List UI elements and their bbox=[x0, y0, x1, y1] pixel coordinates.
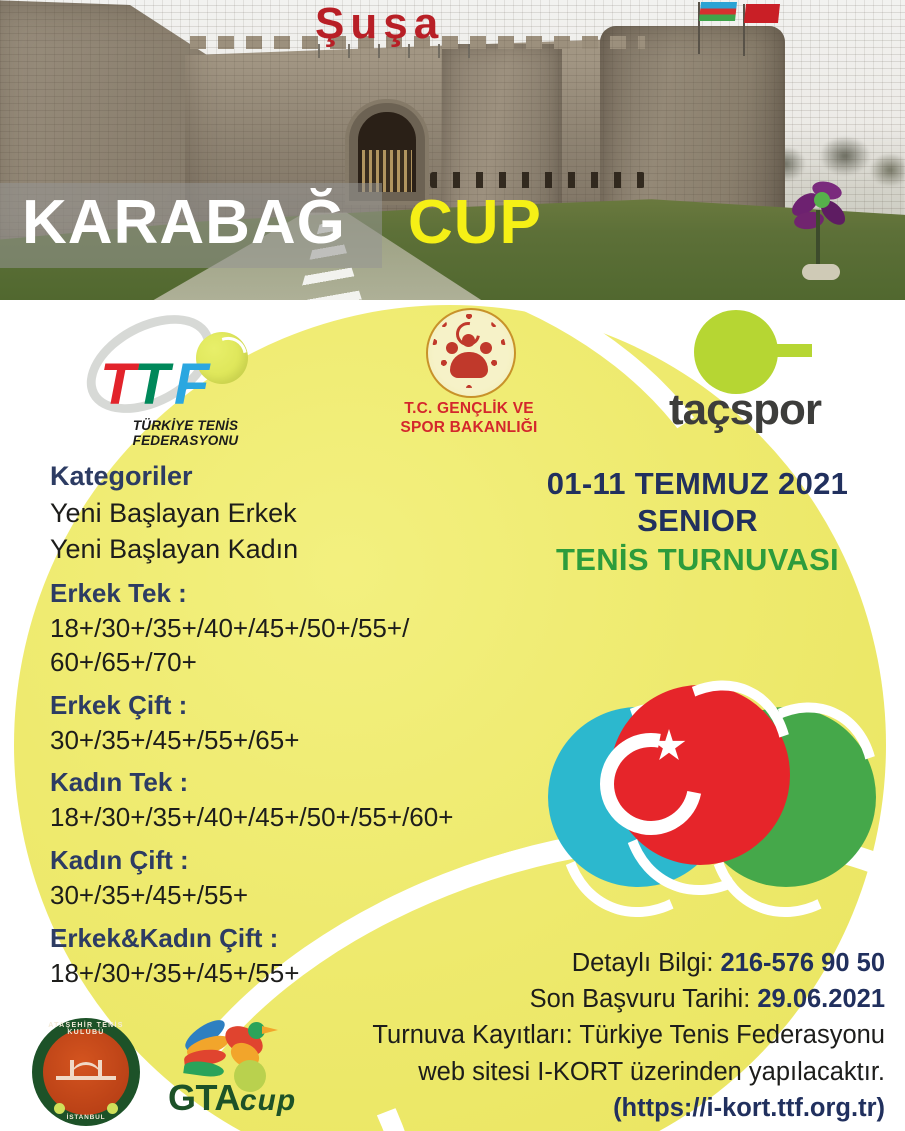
flower-sculpture bbox=[786, 176, 858, 286]
gtacup-word-suffix: cup bbox=[240, 1084, 296, 1117]
category-label-mens-doubles: Erkek Çift : bbox=[50, 687, 540, 724]
poster-body: T T F TÜRKİYE TENİS FEDERASYONU T.C. GEN… bbox=[0, 300, 905, 1131]
tournament-poster: Şuşa KARABAĞ CUP T T F TÜRKİYE TENİS FED… bbox=[0, 0, 905, 1131]
deadline-label: Son Başvuru Tarihi: bbox=[530, 985, 751, 1013]
ttf-letter-1: T bbox=[100, 356, 135, 414]
registration-line-2: web sitesi I-KORT üzerinden yapılacaktır… bbox=[330, 1054, 885, 1090]
ttf-letter-2: T bbox=[134, 356, 169, 414]
poster-title-accent: CUP bbox=[408, 192, 542, 254]
tacspor-circle-icon bbox=[694, 310, 778, 394]
ministry-figure-body bbox=[450, 352, 488, 378]
category-label-mens-singles: Erkek Tek : bbox=[50, 575, 540, 612]
club-badge-text-top: ATAŞEHİR TENİS KULÜBÜ bbox=[32, 1022, 140, 1036]
susa-sign-text: Şuşa bbox=[315, 2, 444, 46]
contact-info-label: Detaylı Bilgi: bbox=[572, 949, 714, 977]
gtacup-logo: GTAcup bbox=[168, 1018, 336, 1128]
atasehir-tennis-club-logo: ATAŞEHİR TENİS KULÜBÜ İSTANBUL bbox=[32, 1018, 140, 1126]
ministry-label-line2: SPOR BAKANLIĞI bbox=[374, 419, 564, 438]
contact-info-line: Detaylı Bilgi: 216-576 90 50 bbox=[330, 945, 885, 981]
event-title-block: 01-11 TEMMUZ 2021 SENIOR TENİS TURNUVASI bbox=[500, 465, 895, 580]
registration-line-1: Turnuva Kayıtları: Türkiye Tenis Federas… bbox=[330, 1017, 885, 1053]
categories-block: Kategoriler Yeni Başlayan Erkek Yeni Baş… bbox=[50, 458, 540, 990]
ministry-label-line1: T.C. GENÇLİK VE bbox=[374, 400, 564, 419]
club-badge-text-bottom: İSTANBUL bbox=[32, 1114, 140, 1121]
gtacup-word-main: GTA bbox=[168, 1077, 240, 1118]
event-dates: 01-11 TEMMUZ 2021 bbox=[500, 465, 895, 502]
club-badge-ball-left bbox=[54, 1103, 65, 1114]
event-level: SENIOR bbox=[500, 502, 895, 541]
ministry-logo: T.C. GENÇLİK VE SPOR BAKANLIĞI bbox=[374, 308, 564, 448]
ministry-figure-left bbox=[446, 342, 458, 354]
tacspor-logo: taçspor bbox=[640, 310, 850, 445]
contact-block: Detaylı Bilgi: 216-576 90 50 Son Başvuru… bbox=[330, 945, 885, 1126]
category-values-mens-singles-1: 18+/30+/35+/40+/45+/50+/55+/ bbox=[50, 612, 540, 646]
gtacup-wordmark: GTAcup bbox=[168, 1080, 336, 1116]
ttf-letter-3: F bbox=[174, 356, 209, 414]
tacspor-wordmark: taçspor bbox=[640, 388, 850, 432]
ministry-figure-right bbox=[480, 342, 492, 354]
bridge-icon bbox=[56, 1060, 116, 1086]
category-values-mens-singles-2: 60+/65+/70+ bbox=[50, 646, 540, 680]
category-open-2: Yeni Başlayan Kadın bbox=[50, 531, 540, 568]
wall-loopholes bbox=[430, 172, 645, 188]
event-type: TENİS TURNUVASI bbox=[500, 541, 895, 580]
deadline-value: 29.06.2021 bbox=[757, 985, 885, 1013]
registration-url[interactable]: (https://i-kort.ttf.org.tr) bbox=[330, 1090, 885, 1126]
ministry-logo-label: T.C. GENÇLİK VE SPOR BAKANLIĞI bbox=[374, 400, 564, 438]
category-values-mens-doubles: 30+/35+/45+/55+/65+ bbox=[50, 724, 540, 758]
sponsor-logo-row: T T F TÜRKİYE TENİS FEDERASYONU T.C. GEN… bbox=[0, 300, 905, 450]
category-label-womens-doubles: Kadın Çift : bbox=[50, 842, 540, 879]
category-label-womens-singles: Kadın Tek : bbox=[50, 764, 540, 801]
deadline-line: Son Başvuru Tarihi: 29.06.2021 bbox=[330, 981, 885, 1017]
azerbaijan-flag-icon bbox=[700, 2, 736, 22]
category-open-1: Yeni Başlayan Erkek bbox=[50, 495, 540, 532]
ttf-logo-label: TÜRKİYE TENİS FEDERASYONU bbox=[78, 418, 293, 448]
categories-heading: Kategoriler bbox=[50, 458, 540, 495]
contact-info-value: 216-576 90 50 bbox=[721, 949, 885, 977]
category-values-womens-singles: 18+/30+/35+/40+/45+/50+/55+/60+ bbox=[50, 801, 540, 835]
poster-title-main: KARABAĞ bbox=[22, 192, 346, 254]
turkey-flag-icon bbox=[745, 4, 781, 24]
three-tennis-balls-graphic bbox=[548, 685, 898, 915]
ministry-figure-head bbox=[462, 334, 475, 347]
category-values-womens-doubles: 30+/35+/45+/55+ bbox=[50, 879, 540, 913]
hero-photo: Şuşa KARABAĞ CUP bbox=[0, 0, 905, 300]
club-badge-ball-right bbox=[107, 1103, 118, 1114]
